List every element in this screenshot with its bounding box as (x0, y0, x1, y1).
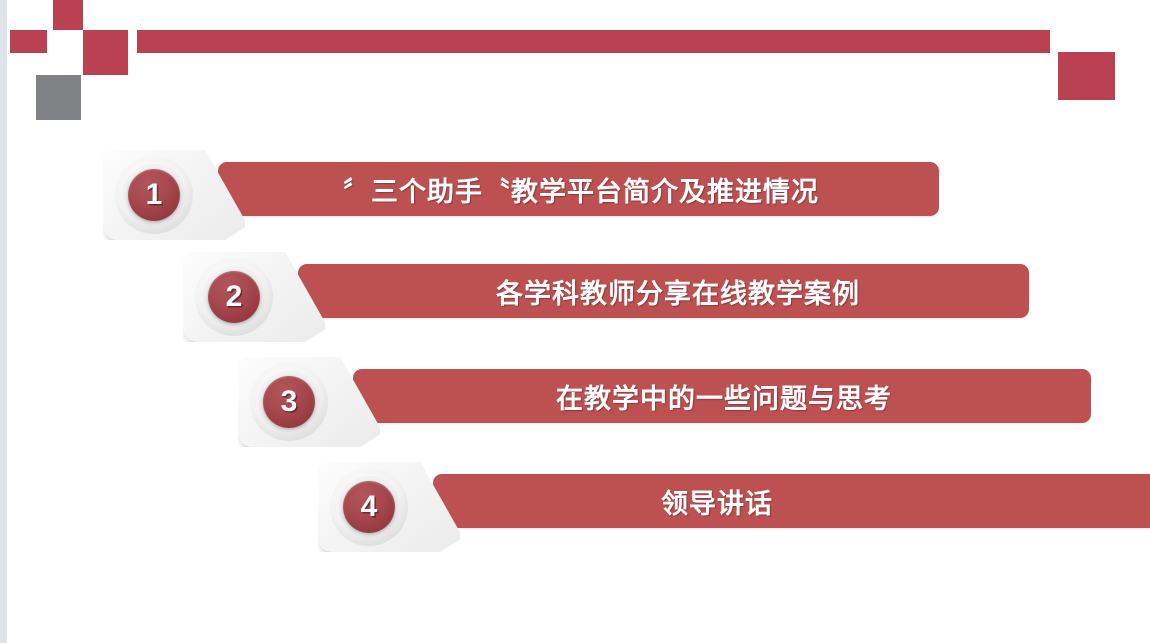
agenda-number-4: 4 (361, 492, 378, 522)
agenda-number-2: 2 (226, 282, 243, 312)
agenda-banner-2[interactable]: 各学科教师分享在线教学案例 (298, 264, 1029, 318)
agenda-number-1: 1 (146, 180, 163, 210)
badge-circle-icon: 3 (263, 376, 315, 428)
agenda-label-2: 各学科教师分享在线教学案例 (496, 272, 860, 311)
agenda-label-4: 领导讲话 (661, 482, 773, 521)
badge-circle-icon: 1 (128, 169, 180, 221)
badge-circle-icon: 2 (208, 271, 260, 323)
agenda-badge-3: 3 (238, 357, 380, 447)
agenda-banner-3[interactable]: 在教学中的一些问题与思考 (353, 369, 1091, 423)
agenda-number-3: 3 (281, 387, 298, 417)
agenda-banner-1[interactable]: 〞三个助手〝教学平台简介及推进情况 (218, 162, 939, 216)
agenda-list: 〞三个助手〝教学平台简介及推进情况 1 各学科教师分享在线教学案例 (0, 0, 1150, 643)
agenda-badge-4: 4 (318, 462, 460, 552)
agenda-label-3: 在教学中的一些问题与思考 (556, 377, 892, 416)
agenda-badge-1: 1 (103, 150, 245, 240)
agenda-banner-4[interactable]: 领导讲话 (433, 474, 1150, 528)
agenda-slide: 〞三个助手〝教学平台简介及推进情况 1 各学科教师分享在线教学案例 (0, 0, 1150, 643)
agenda-badge-2: 2 (183, 252, 325, 342)
agenda-label-1: 〞三个助手〝教学平台简介及推进情况 (343, 170, 819, 209)
badge-circle-icon: 4 (343, 481, 395, 533)
